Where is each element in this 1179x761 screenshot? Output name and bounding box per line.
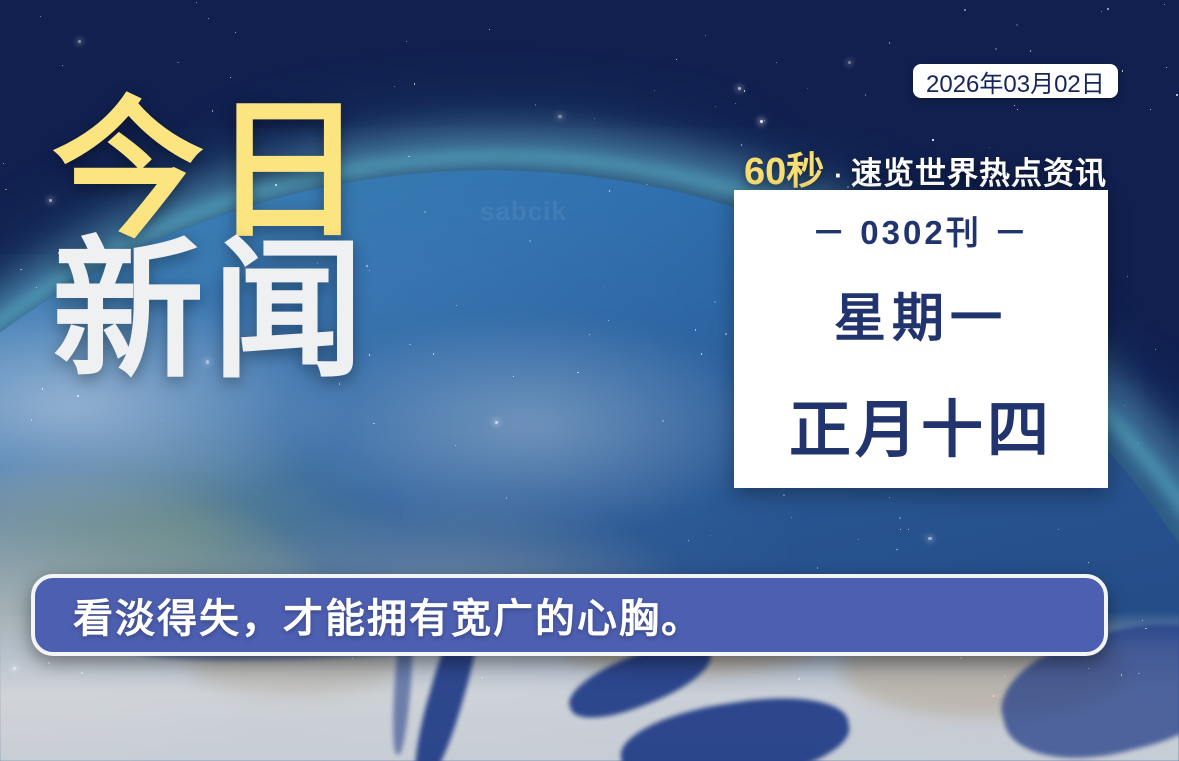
tagline-text: 速览世界热点资讯 — [851, 148, 1107, 193]
tagline-separator: · — [834, 160, 843, 191]
lunar-date-label: 正月十四 — [789, 379, 1053, 469]
tagline: 60秒 · 速览世界热点资讯 — [744, 140, 1107, 195]
title-line-today: 今日 — [52, 96, 472, 246]
title-line-news: 新闻 — [52, 236, 472, 386]
news-poster: sabcik 今日 新闻 2026年03月02日 60秒 · 速览世界热点资讯 … — [0, 0, 1179, 761]
quote-text: 看淡得失，才能拥有宽广的心胸。 — [73, 586, 703, 644]
weekday-label: 星期一 — [834, 276, 1008, 351]
issue-number: － 0302刊 － — [812, 206, 1030, 254]
date-badge: 2026年03月02日 — [913, 64, 1118, 98]
watermark-text: sabcik — [480, 196, 567, 227]
date-info-card: － 0302刊 － 星期一 正月十四 — [734, 190, 1108, 488]
tagline-seconds: 60秒 — [744, 140, 824, 195]
quote-banner: 看淡得失，才能拥有宽广的心胸。 — [31, 574, 1108, 656]
page-title: 今日 新闻 — [52, 96, 472, 387]
